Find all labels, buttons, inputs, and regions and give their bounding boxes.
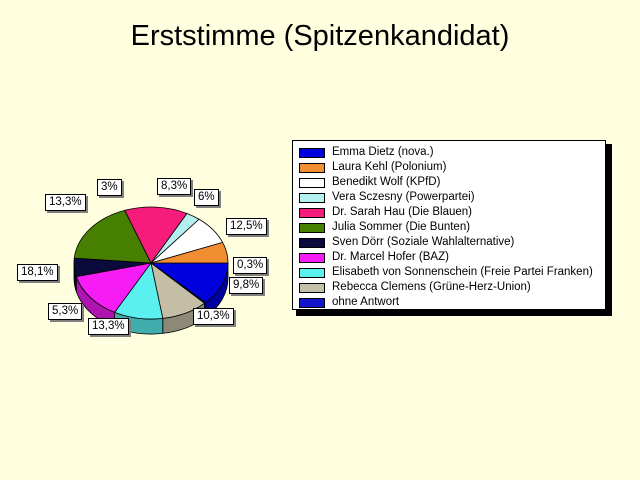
legend-item[interactable]: Elisabeth von Sonnenschein (Freie Partei… (299, 265, 605, 280)
chart-canvas: Erststimme (Spitzenkandidat) 3%8,3%6%13,… (0, 0, 640, 480)
legend-item[interactable]: Vera Sczesny (Powerpartei) (299, 190, 605, 205)
pie-value-label: 9,8% (229, 277, 263, 294)
pie-top-faces (74, 207, 228, 319)
pie-value-label: 3% (97, 179, 122, 196)
legend-item[interactable]: ohne Antwort (299, 295, 605, 310)
chart-title: Erststimme (Spitzenkandidat) (0, 20, 640, 53)
legend-rows: Emma Dietz (nova.)Laura Kehl (Polonium)B… (299, 145, 605, 310)
pie-value-label: 0,3% (233, 257, 267, 274)
legend-color-swatch (299, 178, 325, 188)
legend-color-swatch (299, 208, 325, 218)
legend-item-label: Dr. Marcel Hofer (BAZ) (332, 251, 449, 264)
legend-item[interactable]: Laura Kehl (Polonium) (299, 160, 605, 175)
legend-color-swatch (299, 298, 325, 308)
legend-item[interactable]: Benedikt Wolf (KPfD) (299, 175, 605, 190)
legend-color-swatch (299, 148, 325, 158)
pie-value-label: 5,3% (48, 303, 82, 320)
legend-color-swatch (299, 268, 325, 278)
legend-item[interactable]: Rebecca Clemens (Grüne-Herz-Union) (299, 280, 605, 295)
pie-value-label: 8,3% (157, 178, 191, 195)
legend-item-label: Rebecca Clemens (Grüne-Herz-Union) (332, 281, 531, 294)
legend: Emma Dietz (nova.)Laura Kehl (Polonium)B… (292, 140, 606, 310)
legend-item-label: Vera Sczesny (Powerpartei) (332, 191, 475, 204)
legend-color-swatch (299, 163, 325, 173)
legend-item-label: ohne Antwort (332, 296, 399, 309)
legend-color-swatch (299, 238, 325, 248)
pie-value-label: 6% (194, 189, 219, 206)
legend-color-swatch (299, 283, 325, 293)
legend-item-label: Elisabeth von Sonnenschein (Freie Partei… (332, 266, 593, 279)
pie-value-label: 18,1% (17, 264, 58, 281)
legend-item-label: Benedikt Wolf (KPfD) (332, 176, 440, 189)
legend-item[interactable]: Emma Dietz (nova.) (299, 145, 605, 160)
legend-item-label: Laura Kehl (Polonium) (332, 161, 446, 174)
legend-item-label: Julia Sommer (Die Bunten) (332, 221, 470, 234)
pie-value-label: 13,3% (88, 318, 129, 335)
pie-value-label: 10,3% (193, 308, 234, 325)
legend-item-label: Dr. Sarah Hau (Die Blauen) (332, 206, 472, 219)
legend-item-label: Sven Dörr (Soziale Wahlalternative) (332, 236, 514, 249)
legend-item[interactable]: Julia Sommer (Die Bunten) (299, 220, 605, 235)
legend-color-swatch (299, 223, 325, 233)
pie-value-label: 13,3% (45, 194, 86, 211)
pie-value-label: 12,5% (226, 218, 267, 235)
legend-item-label: Emma Dietz (nova.) (332, 146, 434, 159)
legend-item[interactable]: Dr. Marcel Hofer (BAZ) (299, 250, 605, 265)
legend-item[interactable]: Sven Dörr (Soziale Wahlalternative) (299, 235, 605, 250)
legend-color-swatch (299, 253, 325, 263)
legend-color-swatch (299, 193, 325, 203)
legend-item[interactable]: Dr. Sarah Hau (Die Blauen) (299, 205, 605, 220)
